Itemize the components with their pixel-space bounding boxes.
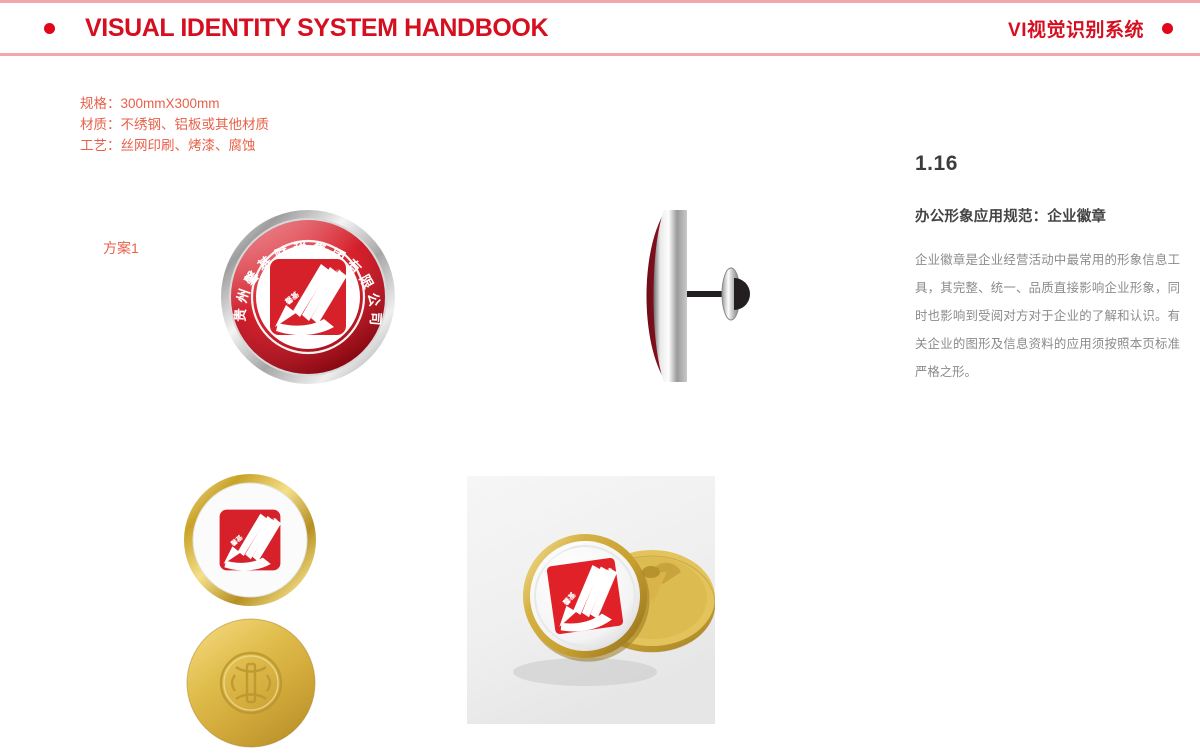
- registered-symbol: ®: [272, 517, 278, 524]
- scheme-label: 方案1: [103, 238, 139, 258]
- section-body-text: 企业徽章是企业经营活动中最常用的形象信息工具，其完整、统一、品质直接影响企业形象…: [915, 246, 1180, 386]
- page-header: VISUAL IDENTITY SYSTEM HANDBOOK VI视觉识别系统: [0, 0, 1200, 56]
- main-badge-front-view: 贵州馨基财税集团有限公司 馨基 ®: [211, 209, 406, 385]
- section-heading: 办公形象应用规范：企业徽章: [915, 205, 1180, 226]
- gold-disc-face: [187, 619, 315, 747]
- header-subtitle: VI视觉识别系统: [1008, 15, 1144, 42]
- registered-symbol: ®: [606, 566, 613, 575]
- page-title: VISUAL IDENTITY SYSTEM HANDBOOK: [85, 14, 548, 43]
- logo-mark: 馨基 ®: [270, 259, 347, 335]
- info-panel: 1.16 办公形象应用规范：企业徽章 企业徽章是企业经营活动中最常用的形象信息工…: [915, 152, 1180, 386]
- spec-line-size: 规格：300mmX300mm: [80, 93, 269, 114]
- logo-mark: 馨基 ®: [546, 557, 624, 634]
- registered-symbol: ®: [335, 269, 342, 277]
- specification-block: 规格：300mmX300mm 材质：不绣钢、铝板或其他材质 工艺：丝网印刷、烤漆…: [80, 93, 269, 156]
- spec-line-process: 工艺：丝网印刷、烤漆、腐蚀: [80, 135, 269, 156]
- logo-mark: 馨基 ®: [220, 510, 282, 571]
- clutch-cap: [734, 278, 750, 310]
- badge-product-photo: 馨基 ®: [467, 476, 715, 724]
- gold-ring-badge: 馨基 ®: [180, 470, 320, 610]
- badge-side-profile: [630, 196, 775, 396]
- spec-line-material: 材质：不绣钢、铝板或其他材质: [80, 114, 269, 135]
- section-number: 1.16: [915, 152, 1180, 176]
- bullet-dot-icon: [44, 23, 55, 34]
- bullet-dot-icon: [1162, 23, 1173, 34]
- badge-chrome-edge: [654, 210, 688, 382]
- gold-disc-back: [178, 618, 324, 748]
